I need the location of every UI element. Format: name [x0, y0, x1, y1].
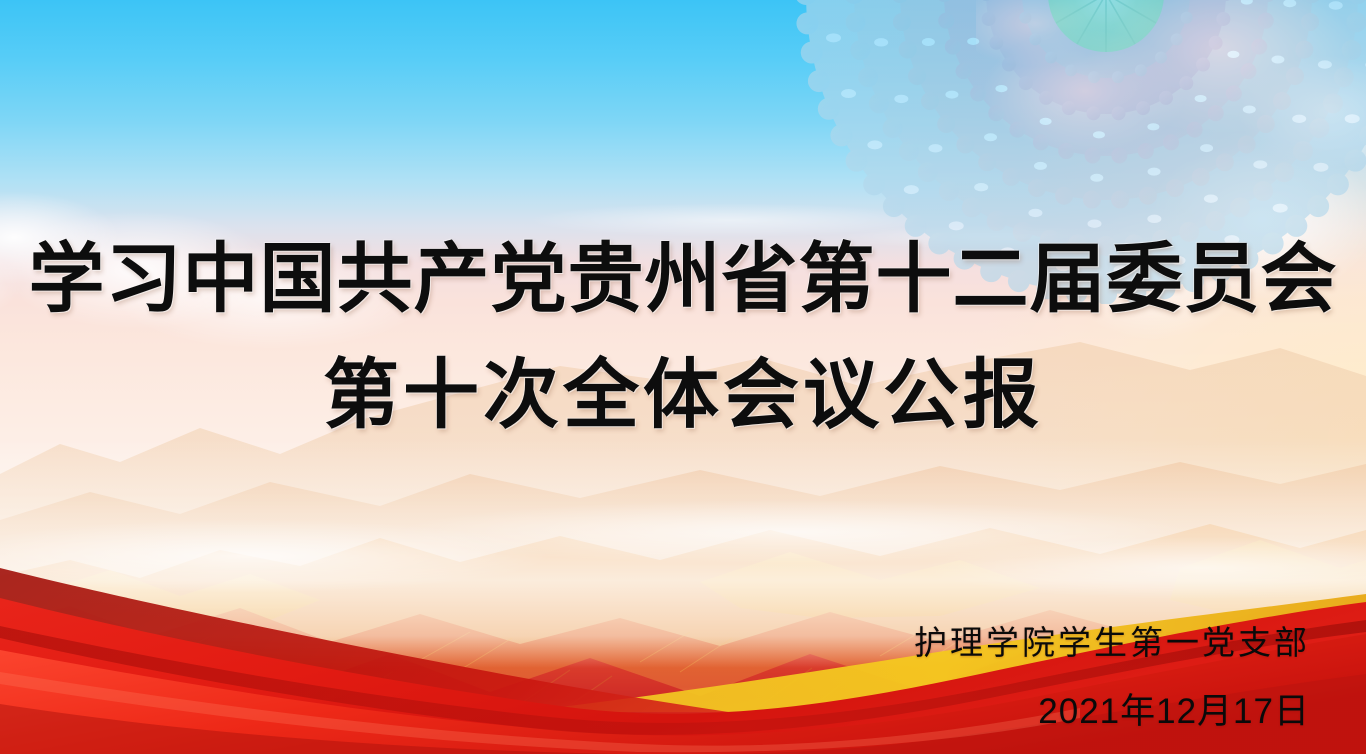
- page-title-line-2: 第十次全体会议公报: [0, 338, 1366, 454]
- presentation-title-slide: 学习中国共产党贵州省第十二届委员会 第十次全体会议公报 护理学院学生第一党支部 …: [0, 0, 1366, 754]
- title-block: 学习中国共产党贵州省第十二届委员会 第十次全体会议公报: [0, 222, 1366, 454]
- presentation-date: 2021年12月17日: [914, 688, 1310, 736]
- signature-block: 护理学院学生第一党支部 2021年12月17日: [914, 620, 1310, 736]
- page-title-line-1: 学习中国共产党贵州省第十二届委员会: [0, 222, 1366, 338]
- organization-name: 护理学院学生第一党支部: [914, 620, 1310, 666]
